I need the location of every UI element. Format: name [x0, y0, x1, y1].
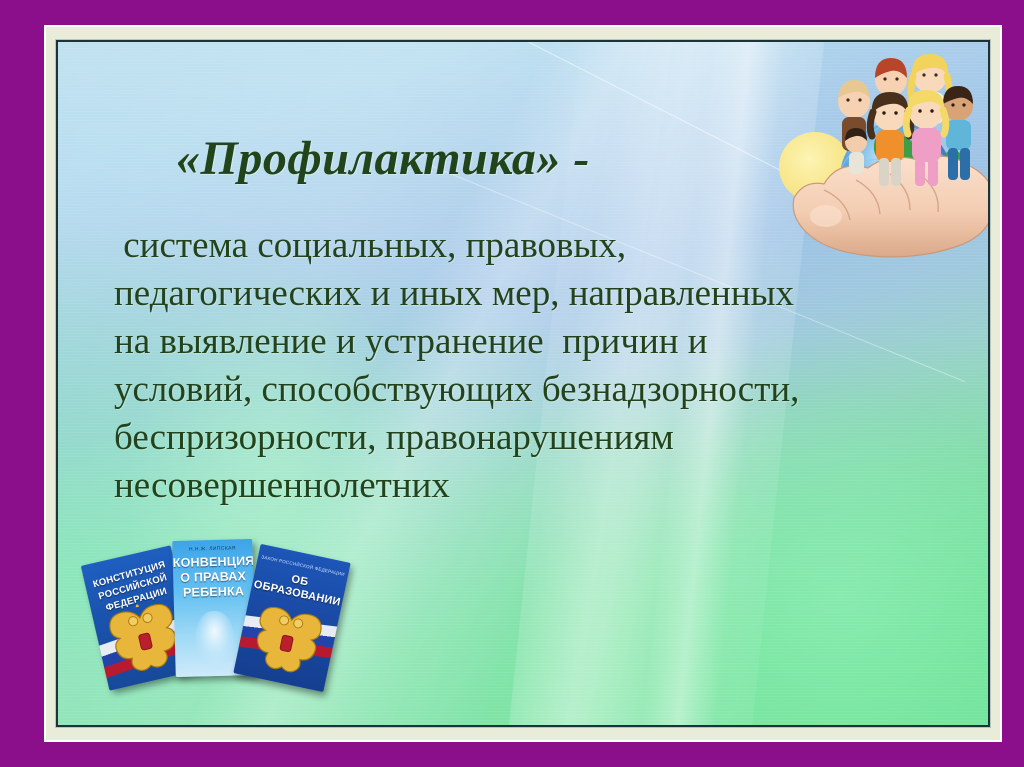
page-title: «Профилактика» - [176, 134, 876, 184]
body-line: педагогических и иных мер, направленных [114, 270, 988, 318]
body-line: беспризорности, правонарушениям [114, 414, 988, 462]
slide-body-text: система социальных, правовых, педагогиче… [114, 222, 988, 510]
presentation-slide-frame: «Профилактика» - система социальных, пра… [0, 0, 1024, 767]
body-line: несовершеннолетних [114, 462, 988, 510]
book-title: КОНВЕНЦИЯ О ПРАВАХ РЕБЕНКА [173, 554, 254, 601]
law-books-illustration: КОНСТИТУЦИЯ РОССИЙСКОЙ ФЕДЕРАЦИИ Н.Н.Ж. … [58, 532, 358, 712]
book-author: Н.Н.Ж. ЛИПСКАЯ [172, 545, 252, 553]
body-line: система социальных, правовых, [114, 222, 988, 270]
slide-canvas: «Профилактика» - система социальных, пра… [58, 42, 988, 725]
body-line: условий, способствующих безнадзорности, [114, 366, 988, 414]
body-line: на выявление и устранение причин и [114, 318, 988, 366]
baby-photo [195, 610, 235, 668]
